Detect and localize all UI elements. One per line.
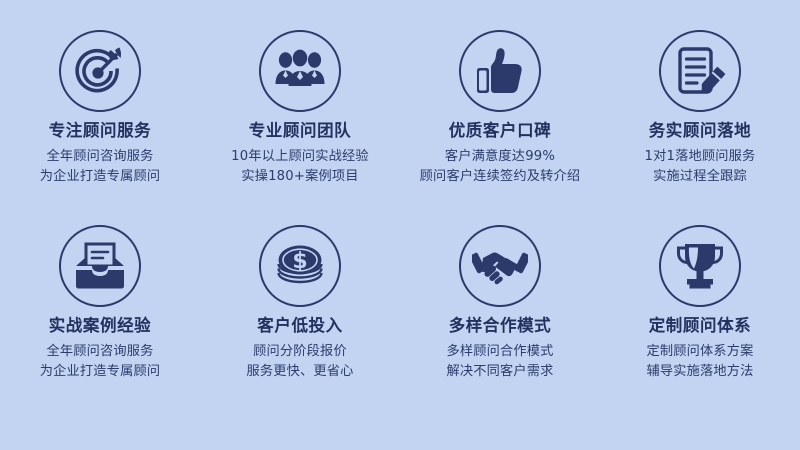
card-lines: 顾问分阶段报价 服务更快、更省心 [246,342,353,382]
trophy-icon [659,225,741,307]
card-line: 解决不同客户需求 [446,362,553,382]
svg-text:$: $ [292,249,307,274]
card-line: 10年以上顾问实战经验 [231,147,369,167]
card-line: 服务更快、更省心 [246,362,353,382]
card-lines: 1对1落地顾问服务 实施过程全跟踪 [645,147,756,187]
team-people-icon [259,30,341,112]
card-lines: 客户满意度达99% 顾问客户连续签约及转介绍 [420,147,581,187]
feature-card-1: 专注顾问服务 全年顾问咨询服务 为企业打造专属顾问 [0,30,200,225]
feature-grid: 专注顾问服务 全年顾问咨询服务 为企业打造专属顾问 专业顾 [0,0,800,450]
card-line: 顾问分阶段报价 [246,342,353,362]
card-line: 多样顾问合作模式 [446,342,553,362]
card-line: 为企业打造专属顾问 [40,362,161,382]
card-line: 1对1落地顾问服务 [645,147,756,167]
card-title: 定制顾问体系 [649,317,752,335]
card-line: 全年顾问咨询服务 [40,342,161,362]
thumbs-up-icon [459,30,541,112]
inbox-tray-icon [59,225,141,307]
card-title: 多样合作模式 [449,317,552,335]
card-line: 实操180+案例项目 [231,167,369,187]
target-arrow-icon [59,30,141,112]
card-lines: 10年以上顾问实战经验 实操180+案例项目 [231,147,369,187]
feature-card-2: 专业顾问团队 10年以上顾问实战经验 实操180+案例项目 [200,30,400,225]
card-lines: 多样顾问合作模式 解决不同客户需求 [446,342,553,382]
document-pencil-icon [659,30,741,112]
card-line: 顾问客户连续签约及转介绍 [420,167,581,187]
card-line: 为企业打造专属顾问 [40,167,161,187]
card-title: 专注顾问服务 [49,122,152,140]
card-line: 实施过程全跟踪 [645,167,756,187]
coin-stack-dollar-icon: $ [259,225,341,307]
card-line: 客户满意度达99% [420,147,581,167]
feature-card-6: $ 客户低投入 顾问分阶段报价 服务更快、更省心 [200,225,400,420]
card-title: 务实顾问落地 [649,122,752,140]
card-line: 定制顾问体系方案 [646,342,753,362]
feature-card-8: 定制顾问体系 定制顾问体系方案 辅导实施落地方法 [600,225,800,420]
card-lines: 全年顾问咨询服务 为企业打造专属顾问 [40,342,161,382]
card-title: 专业顾问团队 [249,122,352,140]
handshake-icon [459,225,541,307]
card-title: 实战案例经验 [49,317,152,335]
card-title: 优质客户口碑 [449,122,552,140]
card-line: 辅导实施落地方法 [646,362,753,382]
card-title: 客户低投入 [257,317,343,335]
feature-card-3: 优质客户口碑 客户满意度达99% 顾问客户连续签约及转介绍 [400,30,600,225]
card-lines: 全年顾问咨询服务 为企业打造专属顾问 [40,147,161,187]
feature-card-4: 务实顾问落地 1对1落地顾问服务 实施过程全跟踪 [600,30,800,225]
feature-card-7: 多样合作模式 多样顾问合作模式 解决不同客户需求 [400,225,600,420]
card-line: 全年顾问咨询服务 [40,147,161,167]
card-lines: 定制顾问体系方案 辅导实施落地方法 [646,342,753,382]
feature-card-5: 实战案例经验 全年顾问咨询服务 为企业打造专属顾问 [0,225,200,420]
